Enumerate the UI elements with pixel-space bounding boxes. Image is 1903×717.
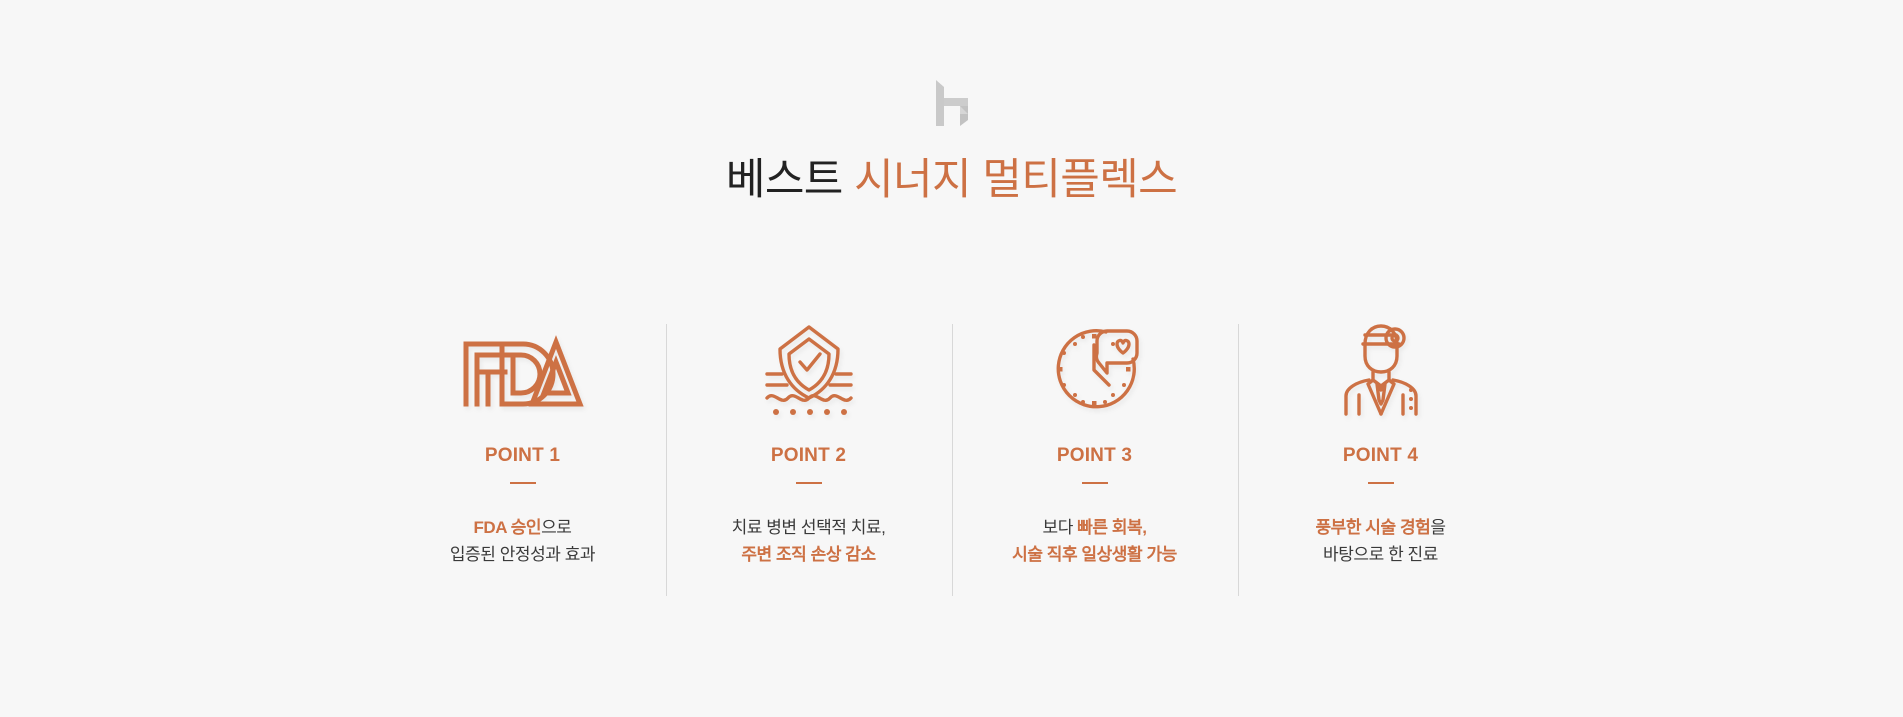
point-desc-2-line1: 치료 병변 선택적 치료, <box>676 515 942 542</box>
point-desc-1-line2: 입증된 안정성과 효과 <box>390 542 656 569</box>
point-dash-2 <box>796 482 822 484</box>
text-run: FDA 승인 <box>473 518 541 537</box>
point-dash-1 <box>510 482 536 484</box>
text-run: 으로 <box>541 518 571 537</box>
point-desc-4-line2: 바탕으로 한 진료 <box>1248 542 1514 569</box>
text-run: 시술 직후 일상생활 가능 <box>1012 545 1177 564</box>
text-run: 치료 병변 선택적 치료, <box>732 518 886 537</box>
text-run: 빠른 회복, <box>1077 518 1146 537</box>
shield-skin-layers-icon <box>676 322 942 418</box>
text-run: 바탕으로 한 진료 <box>1323 545 1438 564</box>
point-desc-2: 치료 병변 선택적 치료, 주변 조직 손상 감소 <box>676 515 942 569</box>
point-desc-3-line2: 시술 직후 일상생활 가능 <box>962 542 1228 569</box>
points-row: POINT 1 FDA 승인으로 입증된 안정성과 효과 <box>380 322 1524 569</box>
point-card-1: POINT 1 FDA 승인으로 입증된 안정성과 효과 <box>380 322 666 569</box>
point-desc-1: FDA 승인으로 입증된 안정성과 효과 <box>390 515 656 569</box>
point-label-2: POINT 2 <box>676 446 942 465</box>
point-card-3: POINT 3 보다 빠른 회복, 시술 직후 일상생활 가능 <box>952 322 1238 569</box>
point-card-4: POINT 4 풍부한 시술 경험을 바탕으로 한 진료 <box>1238 322 1524 569</box>
point-desc-3: 보다 빠른 회복, 시술 직후 일상생활 가능 <box>962 515 1228 569</box>
page-title: 베스트 시너지 멀티플렉스 <box>0 154 1903 208</box>
text-run: 주변 조직 손상 감소 <box>741 545 875 564</box>
point-desc-4: 풍부한 시술 경험을 바탕으로 한 진료 <box>1248 515 1514 569</box>
text-run: 풍부한 시술 경험 <box>1315 518 1430 537</box>
point-desc-2-line2: 주변 조직 손상 감소 <box>676 542 942 569</box>
point-dash-3 <box>1082 482 1108 484</box>
point-dash-4 <box>1368 482 1394 484</box>
text-run: 을 <box>1430 518 1445 537</box>
fda-logo-icon <box>390 322 656 418</box>
page-title-accent: 시너지 멀티플렉스 <box>854 156 1177 204</box>
clock-heart-icon <box>962 322 1228 418</box>
point-label-4: POINT 4 <box>1248 446 1514 465</box>
text-run: 보다 <box>1043 518 1078 537</box>
point-label-1: POINT 1 <box>390 446 656 465</box>
point-desc-1-line1: FDA 승인으로 <box>390 515 656 542</box>
promo-section: 베스트 시너지 멀티플렉스 <box>0 0 1903 717</box>
point-label-3: POINT 3 <box>962 446 1228 465</box>
doctor-icon <box>1248 322 1514 418</box>
page-title-plain: 베스트 <box>726 156 854 204</box>
point-desc-4-line1: 풍부한 시술 경험을 <box>1248 515 1514 542</box>
section-header: 베스트 시너지 멀티플렉스 <box>0 0 1903 208</box>
text-run: 입증된 안정성과 효과 <box>450 545 595 564</box>
brand-mark-icon <box>928 78 976 128</box>
point-desc-3-line1: 보다 빠른 회복, <box>962 515 1228 542</box>
point-card-2: POINT 2 치료 병변 선택적 치료, 주변 조직 손상 감소 <box>666 322 952 569</box>
